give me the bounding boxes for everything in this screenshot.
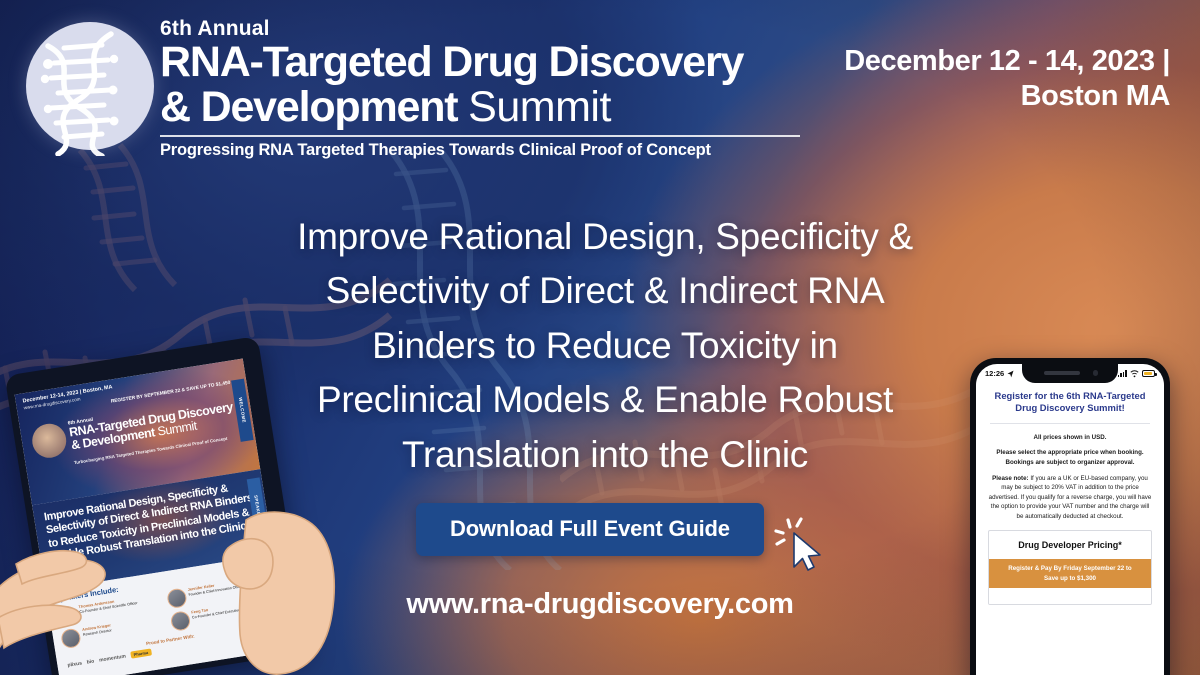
phone-body-text: All prices shown in USD. Please select t…: [976, 424, 1164, 522]
poster-stage: 6th Annual RNA-Targeted Drug Discovery &…: [0, 0, 1200, 675]
download-event-guide-button[interactable]: Download Full Event Guide: [416, 503, 764, 556]
main-headline: Improve Rational Design, Specificity & S…: [210, 210, 1000, 482]
summit-title-line2-bold: & Development: [160, 83, 468, 131]
summit-tagline: Progressing RNA Targeted Therapies Towar…: [160, 141, 810, 160]
wifi-icon: [1130, 370, 1139, 378]
headline-line-2: Selectivity of Direct & Indirect RNA: [210, 264, 1000, 318]
summit-logo: [18, 16, 158, 156]
phone-price-card[interactable]: Drug Developer Pricing* Register & Pay B…: [988, 530, 1152, 605]
hand-right-illustration: [202, 466, 342, 675]
phone-note-label: Please note:: [992, 475, 1028, 482]
summit-title-line1: RNA-Targeted Drug Discovery: [160, 40, 810, 85]
event-location: Boston MA: [790, 79, 1170, 114]
status-time: 12:26: [985, 369, 1004, 378]
status-right: [1118, 370, 1155, 378]
location-arrow-icon: [1007, 370, 1014, 378]
phone-paragraph-booking: Please select the appropriate price when…: [987, 448, 1153, 467]
phone-mockup: 12:26: [962, 358, 1180, 675]
mouse-cursor-click-icon: [774, 517, 830, 573]
brochure-date: December 12-14, 2023 | Boston, MA www.rn…: [22, 384, 114, 412]
annual-label: 6th Annual: [160, 18, 810, 39]
avatar: [166, 587, 188, 609]
offer-line-2: Save up to $1,300: [993, 574, 1147, 583]
headline-line-4: Preclinical Models & Enable Robust: [210, 373, 1000, 427]
phone-register-title: Register for the 6th RNA-Targeted Drug D…: [976, 383, 1164, 415]
status-left: 12:26: [985, 369, 1014, 378]
tablet-mockup: December 12-14, 2023 | Boston, MA www.rn…: [6, 348, 316, 675]
website-url[interactable]: www.rna-drugdiscovery.com: [300, 588, 900, 621]
avatar: [169, 610, 191, 632]
price-card-footer: [989, 588, 1151, 604]
phone-device: 12:26: [970, 358, 1170, 675]
price-card-offer-band: Register & Pay By Friday September 22 to…: [989, 559, 1151, 588]
offer-line-1: Register & Pay By Friday September 22 to: [993, 564, 1147, 573]
signal-bars-icon: [1118, 370, 1127, 377]
headline-line-3: Binders to Reduce Toxicity in: [210, 319, 1000, 373]
summit-title-line2-light: Summit: [468, 83, 611, 131]
brochure-title-block: 6th Annual RNA-Targeted Drug Discovery &…: [67, 395, 235, 453]
phone-paragraph-note: Please note: If you are a UK or EU-based…: [987, 474, 1153, 522]
summit-title-line2: & Development Summit: [160, 85, 810, 130]
phone-status-bar: 12:26: [976, 364, 1164, 383]
battery-icon: [1142, 370, 1155, 377]
headline-line-1: Improve Rational Design, Specificity &: [210, 210, 1000, 264]
phone-screen: 12:26: [976, 364, 1164, 675]
hand-left-illustration: [0, 468, 148, 668]
poster-header: 6th Annual RNA-Targeted Drug Discovery &…: [0, 0, 1200, 175]
phone-paragraph-prices: All prices shown in USD.: [987, 433, 1153, 443]
brand-block: 6th Annual RNA-Targeted Drug Discovery &…: [160, 18, 810, 160]
event-date-location: December 12 - 14, 2023 | Boston MA: [790, 44, 1170, 115]
price-card-title: Drug Developer Pricing*: [989, 531, 1151, 560]
event-date: December 12 - 14, 2023 |: [790, 44, 1170, 79]
cta-container: Download Full Event Guide: [416, 503, 764, 556]
header-divider: [160, 135, 800, 137]
brochure-logo-icon: [30, 421, 69, 460]
rna-helix-icon: [18, 16, 158, 156]
